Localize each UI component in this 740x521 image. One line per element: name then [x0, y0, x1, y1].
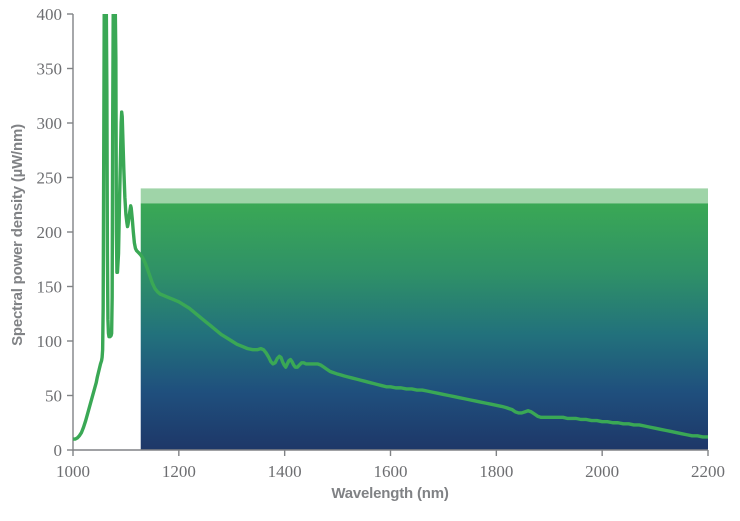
- y-axis-tick-label: 200: [37, 223, 63, 242]
- x-axis-tick-label: 1000: [56, 462, 90, 481]
- spectral-power-density-chart: 050100150200250300350400 100012001400160…: [0, 0, 740, 521]
- x-axis-tick-label: 2200: [691, 462, 725, 481]
- x-axis-tick-label: 1400: [268, 462, 302, 481]
- y-axis-tick-label: 50: [45, 387, 62, 406]
- chart-canvas: 050100150200250300350400 100012001400160…: [0, 0, 740, 521]
- x-axis-title: Wavelength (nm): [331, 485, 448, 502]
- x-axis-tick-label: 2000: [585, 462, 619, 481]
- x-axis-tick-label: 1200: [162, 462, 196, 481]
- x-axis-tick-label: 1600: [374, 462, 408, 481]
- y-axis-tick-label: 150: [37, 278, 63, 297]
- stokes-spectrum-shaded-region: [141, 188, 708, 450]
- x-axis-tick-label: 1800: [479, 462, 513, 481]
- y-axis-tick-label: 250: [37, 169, 63, 188]
- y-axis-tick-label: 300: [37, 114, 63, 133]
- stokes-spectrum-annotation-label: Stokes spectrum: [334, 146, 468, 165]
- y-axis-tick-label: 350: [37, 60, 63, 79]
- y-axis-tick-label: 400: [37, 5, 63, 24]
- y-axis-tick-label: 100: [37, 332, 63, 351]
- y-axis-tick-label: 0: [54, 441, 63, 460]
- y-axis-title: Spectral power density (µW/nm): [9, 124, 26, 346]
